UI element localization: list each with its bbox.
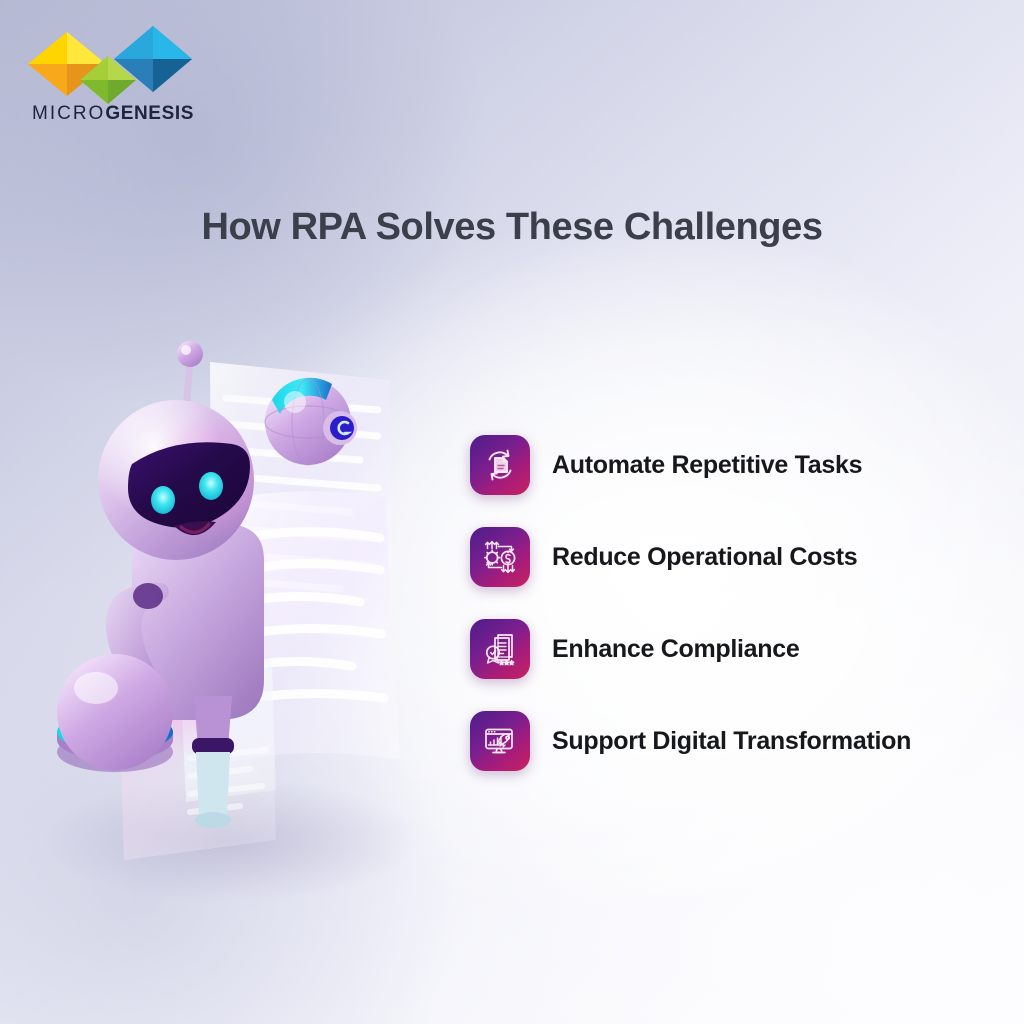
feature-item-support-digital-transformation[interactable]: Support Digital Transformation (470, 710, 970, 772)
gear-dollar-cost-icon (470, 527, 530, 587)
monitor-chart-rocket-icon (470, 711, 530, 771)
feature-item-reduce-operational-costs[interactable]: Reduce Operational Costs (470, 526, 970, 588)
feature-list: Automate Repetitive Tasks (470, 434, 970, 772)
brand-logo[interactable]: MICROGENESIS (28, 24, 208, 123)
feature-label: Enhance Compliance (552, 635, 799, 664)
feature-item-enhance-compliance[interactable]: Enhance Compliance (470, 618, 970, 680)
feature-label: Reduce Operational Costs (552, 543, 857, 572)
automate-document-refresh-icon (470, 435, 530, 495)
logo-diamond-blue (114, 26, 192, 92)
feature-label: Automate Repetitive Tasks (552, 451, 862, 480)
rpa-robot-illustration (40, 340, 470, 900)
certificate-compliance-icon (470, 619, 530, 679)
brand-wordmark-bold: GENESIS (105, 103, 194, 124)
brand-wordmark: MICROGENESIS (32, 104, 208, 123)
feature-item-automate-repetitive-tasks[interactable]: Automate Repetitive Tasks (470, 434, 970, 496)
page-title: How RPA Solves These Challenges (0, 206, 1024, 249)
floating-sphere-large (57, 654, 173, 772)
brand-wordmark-light: MICRO (32, 103, 105, 124)
feature-label: Support Digital Transformation (552, 727, 911, 756)
logo-diamonds (28, 24, 178, 96)
